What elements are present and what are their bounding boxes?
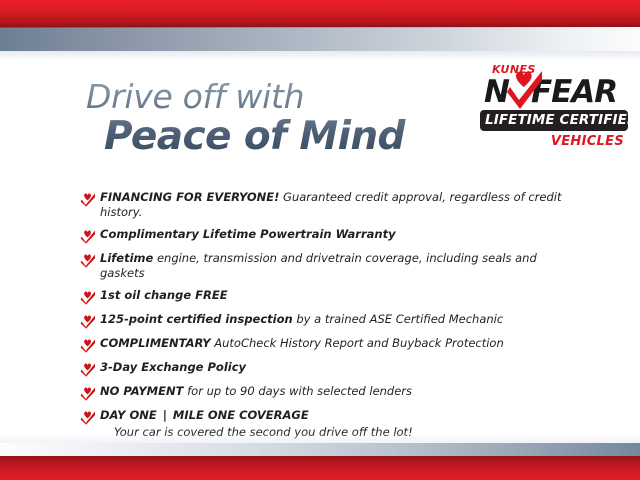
check-heart-icon xyxy=(80,291,96,305)
benefit-text: FINANCING FOR EVERYONE! Guaranteed credi… xyxy=(100,190,580,220)
benefit-separator: | xyxy=(161,408,169,422)
benefit-item: 125-point certified inspection by a trai… xyxy=(80,312,580,329)
headline: Drive off with Peace of Mind xyxy=(86,78,466,160)
check-heart-icon xyxy=(80,411,96,425)
benefit-text: Lifetime engine, transmission and drivet… xyxy=(100,251,580,281)
benefit-detail: engine, transmission and drivetrain cove… xyxy=(100,251,537,280)
benefit-text: 1st oil change FREE xyxy=(100,288,580,303)
bottom-red-band xyxy=(0,456,640,480)
kunes-no-fear-logo: KUNES NFEAR LIFETIME CERTIFIED VEHICLES xyxy=(480,64,628,149)
check-heart-icon xyxy=(80,254,96,268)
check-heart-icon xyxy=(506,70,544,110)
logo-vehicles-label: VEHICLES xyxy=(480,134,624,149)
benefit-text: 125-point certified inspection by a trai… xyxy=(100,312,580,327)
logo-lifetime-certified-bar: LIFETIME CERTIFIED xyxy=(480,110,628,131)
benefit-item: NO PAYMENT for up to 90 days with select… xyxy=(80,384,580,401)
headline-line-1: Drive off with xyxy=(86,78,466,116)
benefit-text: NO PAYMENT for up to 90 days with select… xyxy=(100,384,580,399)
benefit-lead: 125-point certified inspection xyxy=(100,312,293,326)
benefit-item: 1st oil change FREE xyxy=(80,288,580,305)
benefit-lead: 1st oil change FREE xyxy=(100,288,228,302)
check-heart-icon xyxy=(80,315,96,329)
top-fade-band xyxy=(0,51,640,61)
benefit-lead: DAY ONE | MILE ONE COVERAGE xyxy=(100,408,309,422)
benefit-item: 3-Day Exchange Policy xyxy=(80,360,580,377)
benefit-detail: for up to 90 days with selected lenders xyxy=(183,384,412,398)
top-red-band xyxy=(0,0,640,27)
benefit-lead: 3-Day Exchange Policy xyxy=(100,360,246,374)
benefit-text: 3-Day Exchange Policy xyxy=(100,360,580,375)
peace-of-mind-ad-banner: Drive off with Peace of Mind KUNES NFEAR… xyxy=(0,0,640,480)
check-heart-icon xyxy=(80,230,96,244)
benefit-item: FINANCING FOR EVERYONE! Guaranteed credi… xyxy=(80,190,580,220)
bottom-silver-band xyxy=(0,443,640,456)
benefit-item: Lifetime engine, transmission and drivet… xyxy=(80,251,580,281)
check-heart-icon xyxy=(80,387,96,401)
check-heart-icon xyxy=(80,363,96,377)
benefit-detail: by a trained ASE Certified Mechanic xyxy=(293,312,503,326)
benefit-lead: FINANCING FOR EVERYONE! xyxy=(100,190,279,204)
benefit-detail: AutoCheck History Report and Buyback Pro… xyxy=(211,336,504,350)
benefit-lead: Complimentary Lifetime Powertrain Warran… xyxy=(100,227,396,241)
check-heart-icon xyxy=(80,193,96,207)
benefit-text: COMPLIMENTARY AutoCheck History Report a… xyxy=(100,336,580,351)
logo-wordmark-no-fear: NFEAR xyxy=(484,76,628,109)
benefit-lead: COMPLIMENTARY xyxy=(100,336,211,350)
headline-line-2: Peace of Mind xyxy=(104,114,466,160)
benefit-lead: NO PAYMENT xyxy=(100,384,183,398)
benefit-lead: Lifetime xyxy=(100,251,153,265)
benefit-item: Complimentary Lifetime Powertrain Warran… xyxy=(80,227,580,244)
benefits-list: FINANCING FOR EVERYONE! Guaranteed credi… xyxy=(80,190,580,447)
benefit-item: COMPLIMENTARY AutoCheck History Report a… xyxy=(80,336,580,353)
benefit-text: Complimentary Lifetime Powertrain Warran… xyxy=(100,227,580,242)
top-silver-band xyxy=(0,27,640,51)
check-heart-icon xyxy=(80,339,96,353)
